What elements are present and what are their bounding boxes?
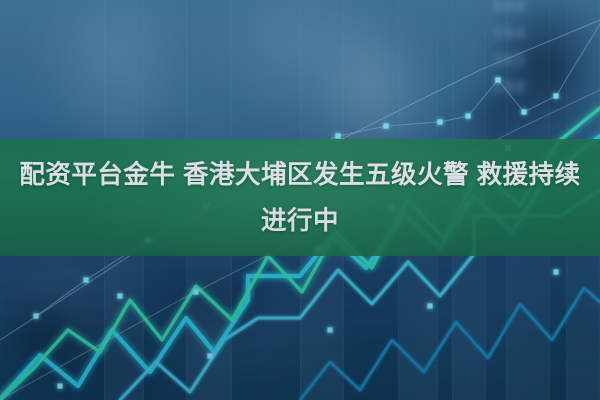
chart-marker-22 bbox=[553, 269, 558, 274]
chart-line-dark-zigzag bbox=[300, 288, 600, 400]
chart-marker-8 bbox=[465, 113, 470, 118]
chart-marker-0 bbox=[33, 313, 38, 318]
chart-marker-9 bbox=[495, 77, 500, 82]
chart-marker-21 bbox=[427, 303, 432, 308]
chart-marker-10 bbox=[521, 109, 526, 114]
chart-marker-20 bbox=[327, 327, 332, 332]
chart-marker-6 bbox=[383, 123, 388, 128]
chart-marker-13 bbox=[193, 289, 198, 294]
chart-marker-12 bbox=[117, 293, 122, 298]
news-banner-image: 800 41.54 594 9.10 305 40.50 200 -0.34 bbox=[0, 0, 600, 400]
headline-line-1: 配资平台金牛 香港大埔区发生五级火警 救援持续 bbox=[19, 152, 580, 198]
chart-marker-11 bbox=[553, 93, 558, 98]
headline-text: 配资平台金牛 香港大埔区发生五级火警 救援持续 进行中 bbox=[0, 141, 600, 254]
chart-marker-1 bbox=[83, 277, 88, 282]
chart-marker-5 bbox=[335, 133, 340, 138]
headline-line-2: 进行中 bbox=[261, 198, 339, 244]
chart-marker-7 bbox=[437, 119, 442, 124]
chart-marker-19 bbox=[207, 353, 212, 358]
chart-marker-18 bbox=[57, 383, 62, 388]
